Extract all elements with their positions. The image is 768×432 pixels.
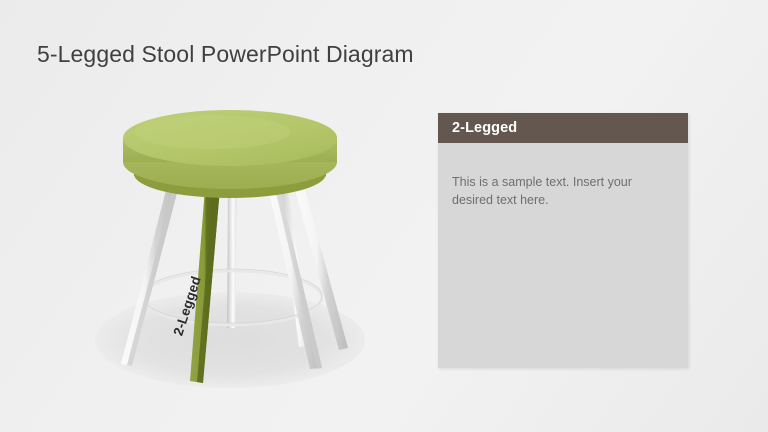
slide-canvas: 5-Legged Stool PowerPoint Diagram — [0, 0, 768, 432]
page-title: 5-Legged Stool PowerPoint Diagram — [37, 41, 414, 68]
info-panel-body: This is a sample text. Insert your desir… — [438, 143, 688, 209]
stool-diagram[interactable]: 2-Legged — [60, 78, 400, 398]
info-panel-header: 2-Legged — [438, 113, 688, 143]
seat-top-highlight — [134, 115, 290, 149]
info-panel[interactable]: 2-Legged This is a sample text. Insert y… — [438, 113, 688, 368]
stool-svg — [60, 78, 400, 398]
info-panel-title: 2-Legged — [452, 120, 517, 136]
info-panel-text: This is a sample text. Insert your desir… — [452, 173, 672, 209]
